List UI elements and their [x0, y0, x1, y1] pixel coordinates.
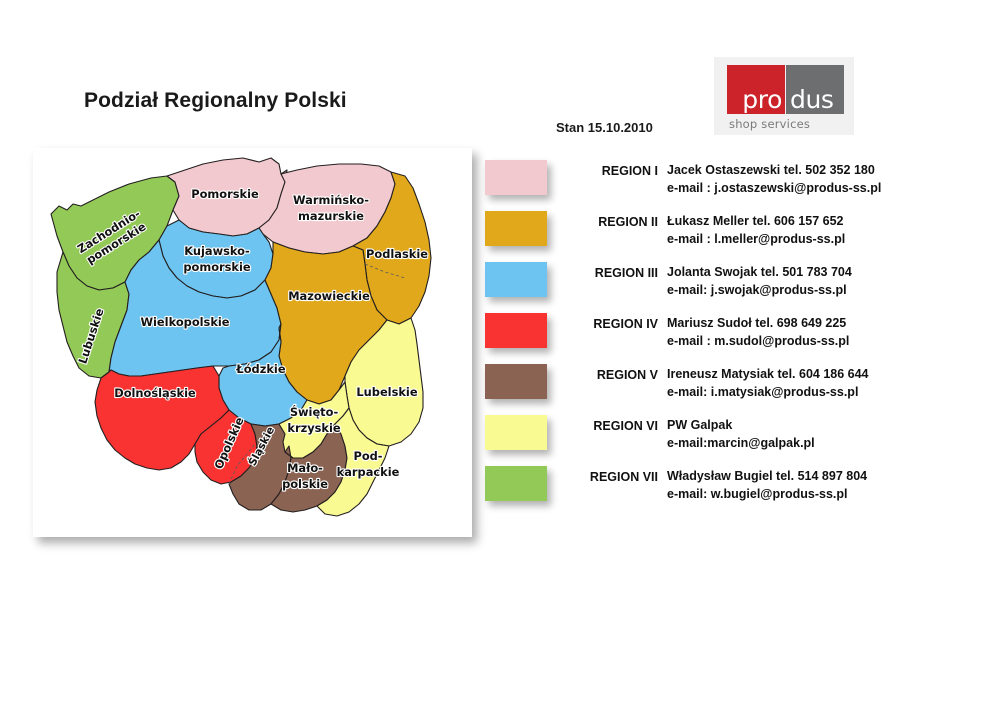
legend-region-label: REGION II: [570, 215, 658, 229]
legend-contact-email[interactable]: e-mail: j.swojak@produs-ss.pl: [667, 282, 852, 300]
legend-contact-name: Mariusz Sudoł tel. 698 649 225: [667, 315, 849, 333]
legend-contact: Ireneusz Matysiak tel. 604 186 644 e-mai…: [667, 366, 869, 401]
map-label-podlaskie: Podlaskie: [366, 247, 428, 261]
legend-contact: Jacek Ostaszewski tel. 502 352 180 e-mai…: [667, 162, 881, 197]
legend-region-label: REGION I: [570, 164, 658, 178]
legend-color-swatch[interactable]: [485, 466, 547, 501]
legend-contact-email[interactable]: e-mail : j.ostaszewski@produs-ss.pl: [667, 180, 881, 198]
legend-color-swatch[interactable]: [485, 313, 547, 348]
map-label-malopolskie-2: polskie: [282, 477, 328, 491]
map-label-kujawsko-pomorskie-1: Kujawsko-: [184, 244, 250, 258]
map-label-lodzkie: Łódzkie: [235, 362, 285, 376]
logo-tagline: shop services: [729, 117, 810, 131]
legend-contact-name: Jacek Ostaszewski tel. 502 352 180: [667, 162, 881, 180]
map-label-dolnoslaskie: Dolnośląskie: [114, 386, 196, 400]
legend-contact-email[interactable]: e-mail: w.bugiel@produs-ss.pl: [667, 486, 867, 504]
legend-color-swatch[interactable]: [485, 160, 547, 195]
map-label-kujawsko-pomorskie-2: pomorskie: [183, 260, 251, 274]
map-label-podkarpackie-1: Pod-: [353, 449, 382, 463]
poland-map-svg: Zachodnio- pomorskie Pomorskie Warmińsko…: [33, 148, 472, 537]
legend-contact: Mariusz Sudoł tel. 698 649 225 e-mail : …: [667, 315, 849, 350]
legend-region-label: REGION IV: [570, 317, 658, 331]
legend-region-label: REGION VII: [570, 470, 658, 484]
map-label-podkarpackie-2: karpackie: [337, 465, 400, 479]
poland-map-panel: Zachodnio- pomorskie Pomorskie Warmińsko…: [33, 148, 472, 537]
produs-logo: pro dus shop services: [714, 57, 854, 135]
map-label-wielkopolskie: Wielkopolskie: [140, 315, 229, 329]
legend-region-label: REGION V: [570, 368, 658, 382]
legend-contact: PW Galpak e-mail:marcin@galpak.pl: [667, 417, 815, 452]
map-label-warminsko-mazurskie-2: mazurskie: [298, 209, 364, 223]
logo-square-red: pro: [727, 65, 785, 114]
legend-contact-name: PW Galpak: [667, 417, 815, 435]
legend-contact-name: Łukasz Meller tel. 606 157 652: [667, 213, 845, 231]
logo-word-pro: pro: [727, 86, 785, 113]
logo-square-gray: dus: [786, 65, 844, 114]
legend-contact-email[interactable]: e-mail: i.matysiak@produs-ss.pl: [667, 384, 869, 402]
map-label-mazowieckie: Mazowieckie: [288, 289, 370, 303]
legend-contact-name: Władysław Bugiel tel. 514 897 804: [667, 468, 867, 486]
legend-contact-email[interactable]: e-mail:marcin@galpak.pl: [667, 435, 815, 453]
legend-contact: Władysław Bugiel tel. 514 897 804 e-mail…: [667, 468, 867, 503]
date-stamp: Stan 15.10.2010: [556, 120, 653, 135]
map-label-swietokrzyskie-2: krzyskie: [287, 421, 341, 435]
map-label-lubelskie: Lubelskie: [356, 385, 417, 399]
legend-color-swatch[interactable]: [485, 415, 547, 450]
page-title: Podział Regionalny Polski: [84, 89, 347, 113]
legend-color-swatch[interactable]: [485, 211, 547, 246]
legend-contact: Łukasz Meller tel. 606 157 652 e-mail : …: [667, 213, 845, 248]
legend-contact-name: Jolanta Swojak tel. 501 783 704: [667, 264, 852, 282]
logo-word-dus: dus: [786, 86, 844, 113]
legend-color-swatch[interactable]: [485, 262, 547, 297]
legend-contact-name: Ireneusz Matysiak tel. 604 186 644: [667, 366, 869, 384]
map-label-pomorskie: Pomorskie: [191, 187, 259, 201]
legend-region-label: REGION VI: [570, 419, 658, 433]
map-label-malopolskie-1: Mało-: [287, 461, 323, 475]
legend-contact-email[interactable]: e-mail : l.meller@produs-ss.pl: [667, 231, 845, 249]
legend-contact: Jolanta Swojak tel. 501 783 704 e-mail: …: [667, 264, 852, 299]
legend-color-swatch[interactable]: [485, 364, 547, 399]
legend-contact-email[interactable]: e-mail : m.sudol@produs-ss.pl: [667, 333, 849, 351]
map-label-swietokrzyskie-1: Święto-: [290, 404, 339, 419]
map-label-warminsko-mazurskie-1: Warmińsko-: [293, 193, 369, 207]
legend-region-label: REGION III: [570, 266, 658, 280]
